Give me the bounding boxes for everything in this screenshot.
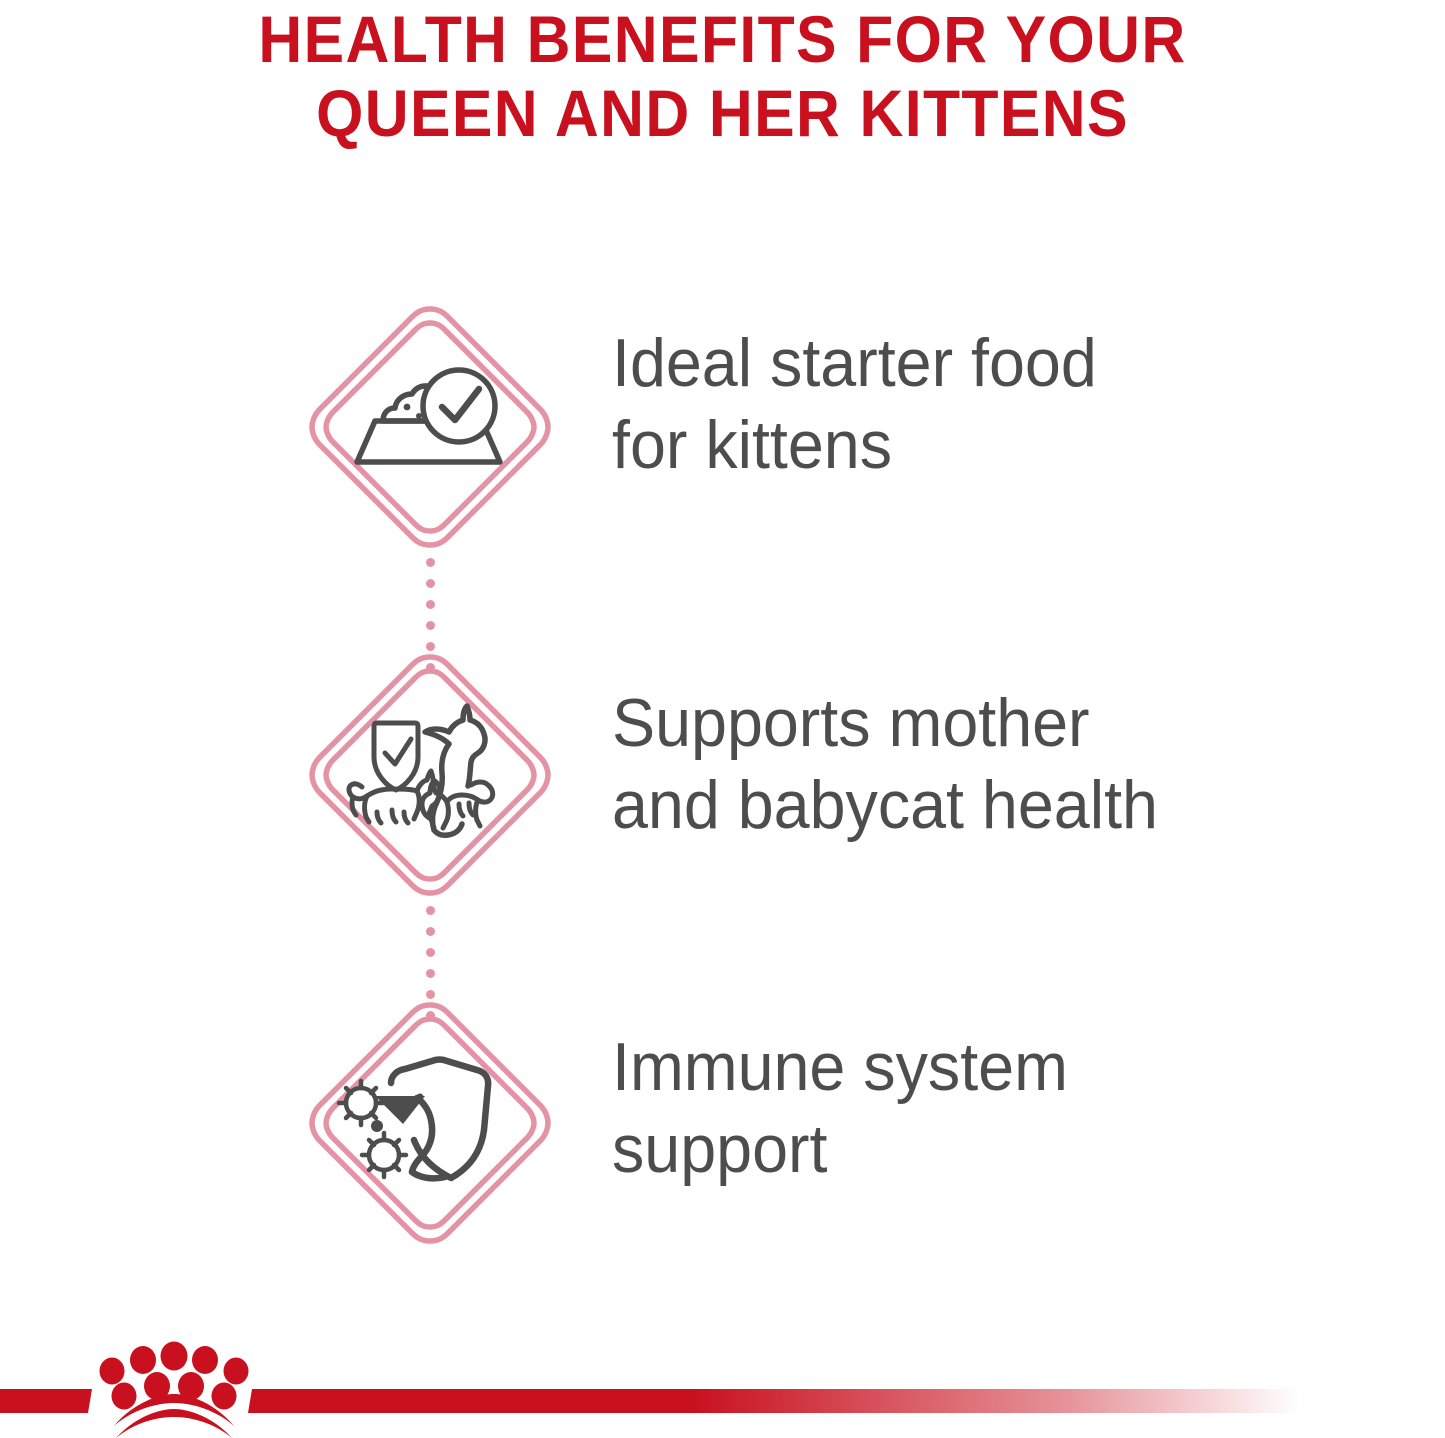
- royal-canin-crown-icon: [100, 1342, 249, 1438]
- food-bowl-check-icon: [307, 304, 553, 550]
- connector-dots-1: [424, 558, 436, 644]
- benefit-text-starter-food: Ideal starter food for kittens: [612, 322, 1334, 486]
- benefit-text-line-2: support: [612, 1108, 1334, 1190]
- benefits-list: Ideal starter food for kittens: [0, 296, 1445, 1340]
- benefit-item-immune-support: Immune system support: [0, 992, 1445, 1340]
- product-benefits-panel: HEALTH BENEFITS FOR YOUR QUEEN AND HER K…: [0, 0, 1445, 1438]
- benefit-text-mother-babycat-health: Supports mother and babycat health: [612, 682, 1334, 846]
- footer-right-bar: [248, 1389, 1300, 1413]
- page-title-line-2: QUEEN AND HER KITTENS: [58, 76, 1387, 150]
- connector-dots-2: [424, 906, 436, 992]
- connector-dot: [426, 579, 435, 588]
- connector-dot: [426, 969, 435, 978]
- benefit-text-line-2: for kittens: [612, 404, 1334, 486]
- benefit-text-line-1: Supports mother: [612, 682, 1334, 764]
- connector-dot: [426, 621, 435, 630]
- benefit-item-mother-babycat-health: Supports mother and babycat health: [0, 644, 1445, 992]
- shield-cat-kittens-icon: [307, 652, 553, 898]
- connector-dot: [426, 906, 435, 915]
- shield-germs-arrow-icon: [307, 1000, 553, 1246]
- benefit-text-line-1: Ideal starter food: [612, 322, 1334, 404]
- connector-dot: [426, 558, 435, 567]
- page-title: HEALTH BENEFITS FOR YOUR QUEEN AND HER K…: [0, 2, 1445, 150]
- benefit-text-line-2: and babycat health: [612, 764, 1334, 846]
- page-title-line-1: HEALTH BENEFITS FOR YOUR: [58, 2, 1387, 76]
- benefit-text-line-1: Immune system: [612, 1026, 1334, 1108]
- benefit-item-starter-food: Ideal starter food for kittens: [0, 296, 1445, 644]
- connector-dot: [426, 927, 435, 936]
- connector-dot: [426, 948, 435, 957]
- connector-dot: [426, 600, 435, 609]
- footer-brand-bar: [0, 1330, 1445, 1438]
- footer-left-bar: [0, 1389, 92, 1413]
- benefit-text-immune-support: Immune system support: [612, 1026, 1334, 1190]
